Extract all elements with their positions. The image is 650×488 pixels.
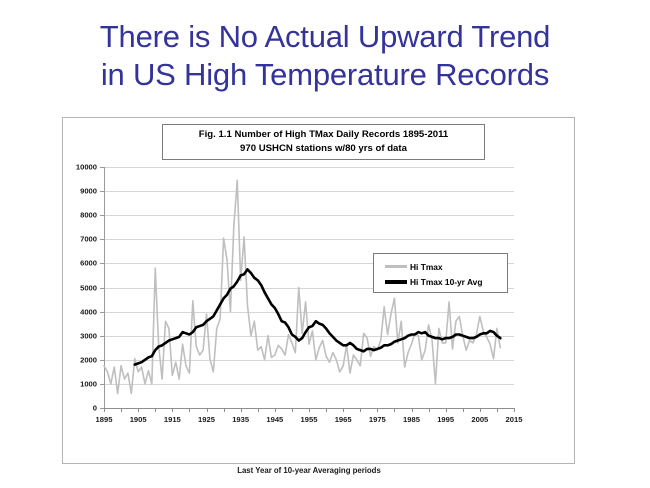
y-axis-tick-label: 2000 — [80, 355, 97, 364]
x-axis-tick-label: 1985 — [403, 415, 420, 424]
chart-title-box: Fig. 1.1 Number of High TMax Daily Recor… — [162, 124, 485, 160]
x-axis-tick — [224, 408, 225, 412]
page-title: There is No Actual Upward Trend in US Hi… — [0, 18, 650, 95]
legend-label-hi-tmax-10yr-avg: Hi Tmax 10-yr Avg — [410, 277, 482, 287]
x-axis-tick-label: 1935 — [232, 415, 249, 424]
x-axis-tick — [480, 408, 481, 412]
plot-area: 0100020003000400050006000700080009000100… — [104, 167, 514, 408]
x-axis-tick — [138, 408, 139, 412]
x-axis-tick — [155, 408, 156, 412]
x-axis-tick-label: 1975 — [369, 415, 386, 424]
x-axis-tick — [343, 408, 344, 412]
y-axis-tick-label: 9000 — [80, 187, 97, 196]
x-axis-tick-label: 1915 — [164, 415, 181, 424]
x-axis-tick-label: 1965 — [335, 415, 352, 424]
x-axis-tick — [309, 408, 310, 412]
x-axis-tick-label: 1945 — [266, 415, 283, 424]
x-axis-tick-label: 2005 — [471, 415, 488, 424]
chart-title: Fig. 1.1 Number of High TMax Daily Recor… — [169, 128, 478, 142]
x-axis-tick — [497, 408, 498, 412]
chart-figure: Fig. 1.1 Number of High TMax Daily Recor… — [62, 117, 575, 464]
x-axis-tick — [360, 408, 361, 412]
y-axis-tick-label: 6000 — [80, 259, 97, 268]
y-axis-tick-label: 0 — [93, 404, 97, 413]
y-axis-tick-label: 1000 — [80, 379, 97, 388]
x-axis-tick — [189, 408, 190, 412]
y-axis-tick-label: 3000 — [80, 331, 97, 340]
x-axis-tick — [172, 408, 173, 412]
x-axis-title: Last Year of 10-year Averaging periods — [104, 466, 514, 475]
legend-item: Hi Tmax — [374, 259, 507, 274]
chart-legend: Hi Tmax Hi Tmax 10-yr Avg — [373, 253, 508, 293]
y-axis-tick-label: 5000 — [80, 283, 97, 292]
x-axis-tick — [412, 408, 413, 412]
y-axis-tick-label: 7000 — [80, 235, 97, 244]
x-axis-tick — [514, 408, 515, 412]
y-axis-tick-label: 8000 — [80, 211, 97, 220]
x-axis-tick — [326, 408, 327, 412]
x-axis-tick — [258, 408, 259, 412]
x-axis-tick — [446, 408, 447, 412]
chart-subtitle: 970 USHCN stations w/80 yrs of data — [169, 142, 478, 156]
y-axis-tick-label: 10000 — [76, 163, 97, 172]
x-axis-tick — [241, 408, 242, 412]
x-axis-tick-label: 1955 — [301, 415, 318, 424]
x-axis-tick — [104, 408, 105, 412]
x-axis-tick-label: 1995 — [437, 415, 454, 424]
legend-swatch-hi-tmax — [385, 265, 407, 268]
x-axis-tick — [394, 408, 395, 412]
x-axis-tick — [463, 408, 464, 412]
legend-swatch-hi-tmax-10yr-avg — [385, 280, 407, 284]
x-axis-tick — [377, 408, 378, 412]
x-axis-tick — [429, 408, 430, 412]
x-axis-tick-label: 1905 — [130, 415, 147, 424]
y-axis-tick-label: 4000 — [80, 307, 97, 316]
x-axis-tick-label: 1925 — [198, 415, 215, 424]
x-axis-tick-label: 1895 — [96, 415, 113, 424]
x-axis-tick — [292, 408, 293, 412]
x-axis-tick — [121, 408, 122, 412]
x-axis-tick-label: 2015 — [506, 415, 523, 424]
x-axis-tick — [275, 408, 276, 412]
legend-item: Hi Tmax 10-yr Avg — [374, 274, 507, 289]
legend-label-hi-tmax: Hi Tmax — [410, 262, 443, 272]
x-axis-tick — [207, 408, 208, 412]
